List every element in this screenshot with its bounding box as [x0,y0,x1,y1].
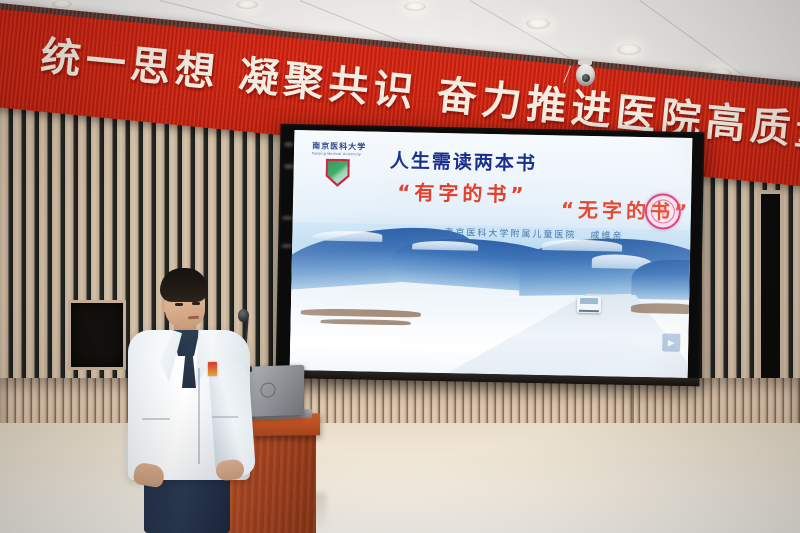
slide-subtitle-right: “无字的书” [561,193,692,225]
ceiling-downlight [236,0,258,9]
university-name-en: Nanjing Medical University [312,151,361,156]
slide-photo: ▶ [290,222,691,378]
play-icon: ▶ [668,338,675,347]
speaker-hair [160,268,208,302]
ceiling-downlight [617,44,641,55]
wall-recess-panel-right [757,190,784,384]
camera-lens-icon [582,74,590,82]
play-button-overlay[interactable]: ▶ [662,333,680,351]
ceiling-downlight [404,2,426,11]
speaker [112,268,272,533]
ceiling-downlight [52,0,72,8]
ceiling-downlight [526,18,550,29]
university-logo: 南京医科大学 Nanjing Medical University [307,140,370,191]
slide-title: 人生需读两本书 [390,146,538,176]
slide-subtitle-left: “有字的书” [397,176,528,208]
screenshot-root: 统一思想 凝聚共识 奋力推进医院高质量发展 [0,0,800,533]
slide-area: ▶ 南京医科大学 Nanjing Medical University ⚕ [290,130,693,378]
speaker-badge [208,362,217,376]
university-crest-icon [325,159,350,187]
projection-screen: ▶ 南京医科大学 Nanjing Medical University ⚕ [275,124,704,386]
slide-presenter: 戚维亲 [590,231,623,242]
